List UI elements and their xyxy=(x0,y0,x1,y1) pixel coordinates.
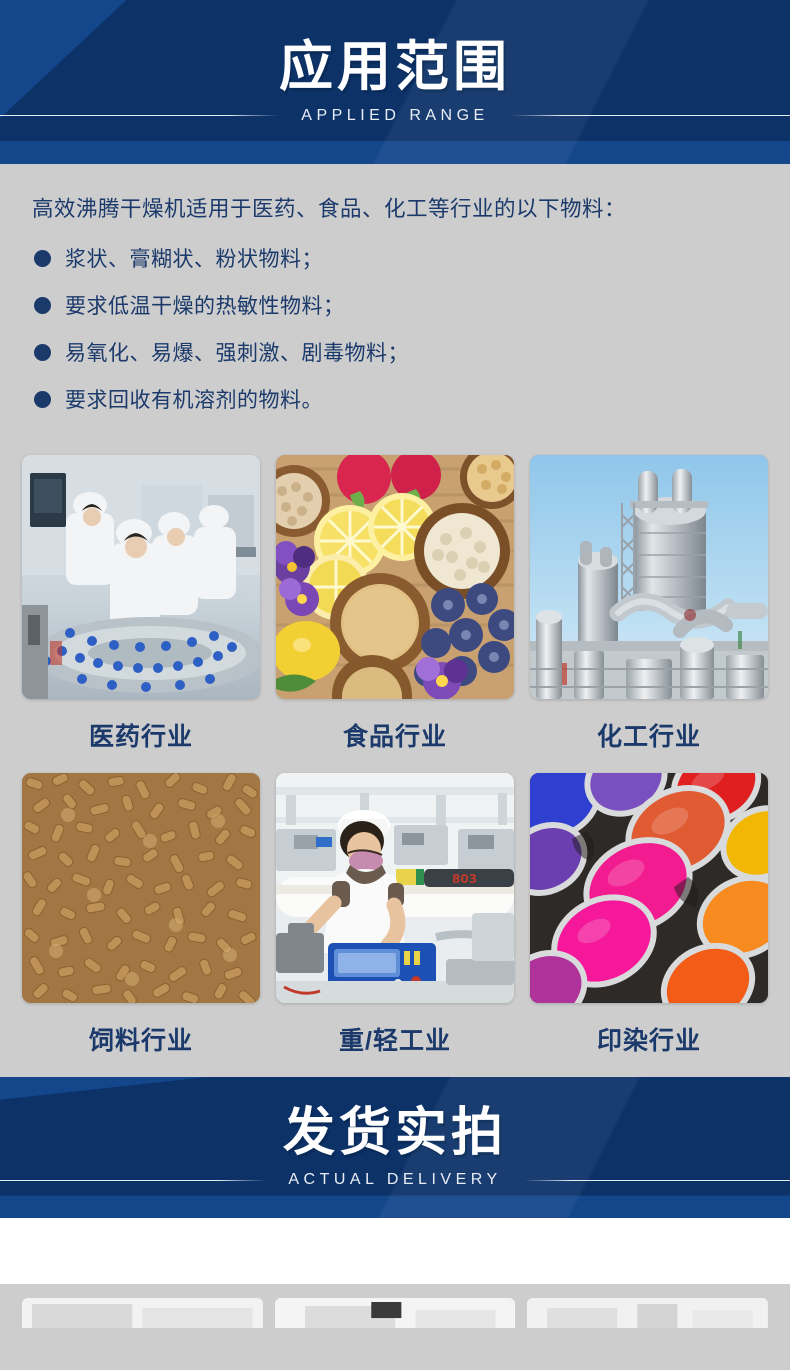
delivery-photo-thumb[interactable] xyxy=(275,1298,516,1328)
actual-delivery-banner: 发货实拍 ACTUAL DELIVERY xyxy=(0,1077,790,1218)
intro-paragraph: 高效沸腾干燥机适用于医药、食品、化工等行业的以下物料： xyxy=(0,194,790,225)
industry-gallery: 医药行业 xyxy=(0,431,790,1077)
industry-card[interactable]: 803 xyxy=(276,773,514,1077)
bullet-dot-icon xyxy=(34,250,51,267)
product-detail-page: 应用范围 APPLIED RANGE 高效沸腾干燥机适用于医药、食品、化工等行业… xyxy=(0,0,790,1370)
industry-caption: 食品行业 xyxy=(276,699,514,773)
bullet-dot-icon xyxy=(34,344,51,361)
feed-pellets-image[interactable] xyxy=(22,773,260,1003)
divider-line-right xyxy=(524,1180,790,1181)
list-item-label: 要求低温干燥的热敏性物料； xyxy=(65,290,345,320)
section-title-en: APPLIED RANGE xyxy=(279,107,510,125)
section-title-cn: 应用范围 xyxy=(279,39,511,96)
industry-caption: 医药行业 xyxy=(22,699,260,773)
list-item-label: 要求回收有机溶剂的物料。 xyxy=(65,384,323,414)
list-item: 要求回收有机溶剂的物料。 xyxy=(34,384,790,414)
food-grains-fruits-image[interactable] xyxy=(276,455,514,699)
divider-line-left xyxy=(0,115,279,116)
bullet-dot-icon xyxy=(34,297,51,314)
dye-pigment-cans-image[interactable] xyxy=(530,773,768,1003)
white-spacer xyxy=(0,1218,790,1284)
section-title-en: ACTUAL DELIVERY xyxy=(266,1171,523,1189)
delivery-photo-thumb[interactable] xyxy=(22,1298,263,1328)
delivery-photo-thumb[interactable] xyxy=(527,1298,768,1328)
divider-line-right xyxy=(511,115,790,116)
list-item: 易氧化、易爆、强刺激、剧毒物料； xyxy=(34,337,790,367)
textile-factory-worker-image[interactable]: 803 xyxy=(276,773,514,1003)
industry-caption: 印染行业 xyxy=(530,1003,768,1077)
list-item: 要求低温干燥的热敏性物料； xyxy=(34,290,790,320)
list-item: 浆状、膏糊状、粉状物料； xyxy=(34,243,790,273)
list-item-label: 浆状、膏糊状、粉状物料； xyxy=(65,243,323,273)
divider-line-left xyxy=(0,1180,266,1181)
section-subtitle-row: ACTUAL DELIVERY xyxy=(0,1171,790,1189)
industry-card[interactable]: 食品行业 xyxy=(276,455,514,773)
svg-text:803: 803 xyxy=(452,872,477,886)
applied-range-banner: 应用范围 APPLIED RANGE xyxy=(0,0,790,164)
bullet-dot-icon xyxy=(34,391,51,408)
chemical-plant-towers-image[interactable] xyxy=(530,455,768,699)
industry-caption: 化工行业 xyxy=(530,699,768,773)
section-title-cn: 发货实拍 xyxy=(283,1106,507,1161)
material-list: 浆状、膏糊状、粉状物料； 要求低温干燥的热敏性物料； 易氧化、易爆、强刺激、剧毒… xyxy=(0,225,790,414)
delivery-photo-strip xyxy=(0,1284,790,1328)
industry-card[interactable]: 饲料行业 xyxy=(22,773,260,1077)
pharmaceutical-production-line-image[interactable] xyxy=(22,455,260,699)
industry-card[interactable]: 化工行业 xyxy=(530,455,768,773)
section-subtitle-row: APPLIED RANGE xyxy=(0,107,790,125)
list-item-label: 易氧化、易爆、强刺激、剧毒物料； xyxy=(65,337,409,367)
industry-caption: 重/轻工业 xyxy=(276,1003,514,1077)
applied-range-content: 高效沸腾干燥机适用于医药、食品、化工等行业的以下物料： 浆状、膏糊状、粉状物料；… xyxy=(0,164,790,1077)
industry-caption: 饲料行业 xyxy=(22,1003,260,1077)
industry-card[interactable]: 印染行业 xyxy=(530,773,768,1077)
industry-card[interactable]: 医药行业 xyxy=(22,455,260,773)
